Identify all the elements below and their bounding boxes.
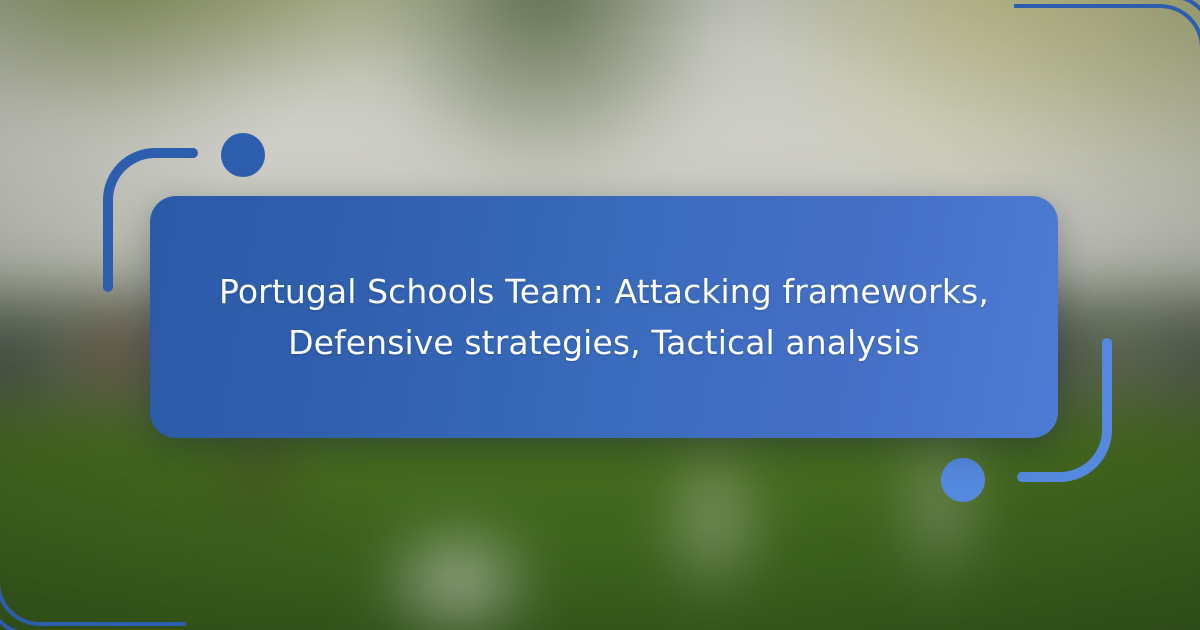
banner-stage: Portugal Schools Team: Attacking framewo… [0,0,1200,630]
elbow-cap-top-left-horizontal [186,148,198,158]
corner-bracket-bottom-left-inner [0,538,156,630]
title-card: Portugal Schools Team: Attacking framewo… [150,196,1058,438]
page-title: Portugal Schools Team: Attacking framewo… [202,266,1006,369]
accent-dot-bottom-right [941,458,985,502]
elbow-cap-top-left-vertical [103,280,113,292]
elbow-cap-bottom-right-horizontal [1017,472,1029,482]
elbow-cap-bottom-right-vertical [1102,338,1112,350]
corner-bracket-top-right-inner [1044,0,1200,92]
accent-dot-top-left [221,133,265,177]
